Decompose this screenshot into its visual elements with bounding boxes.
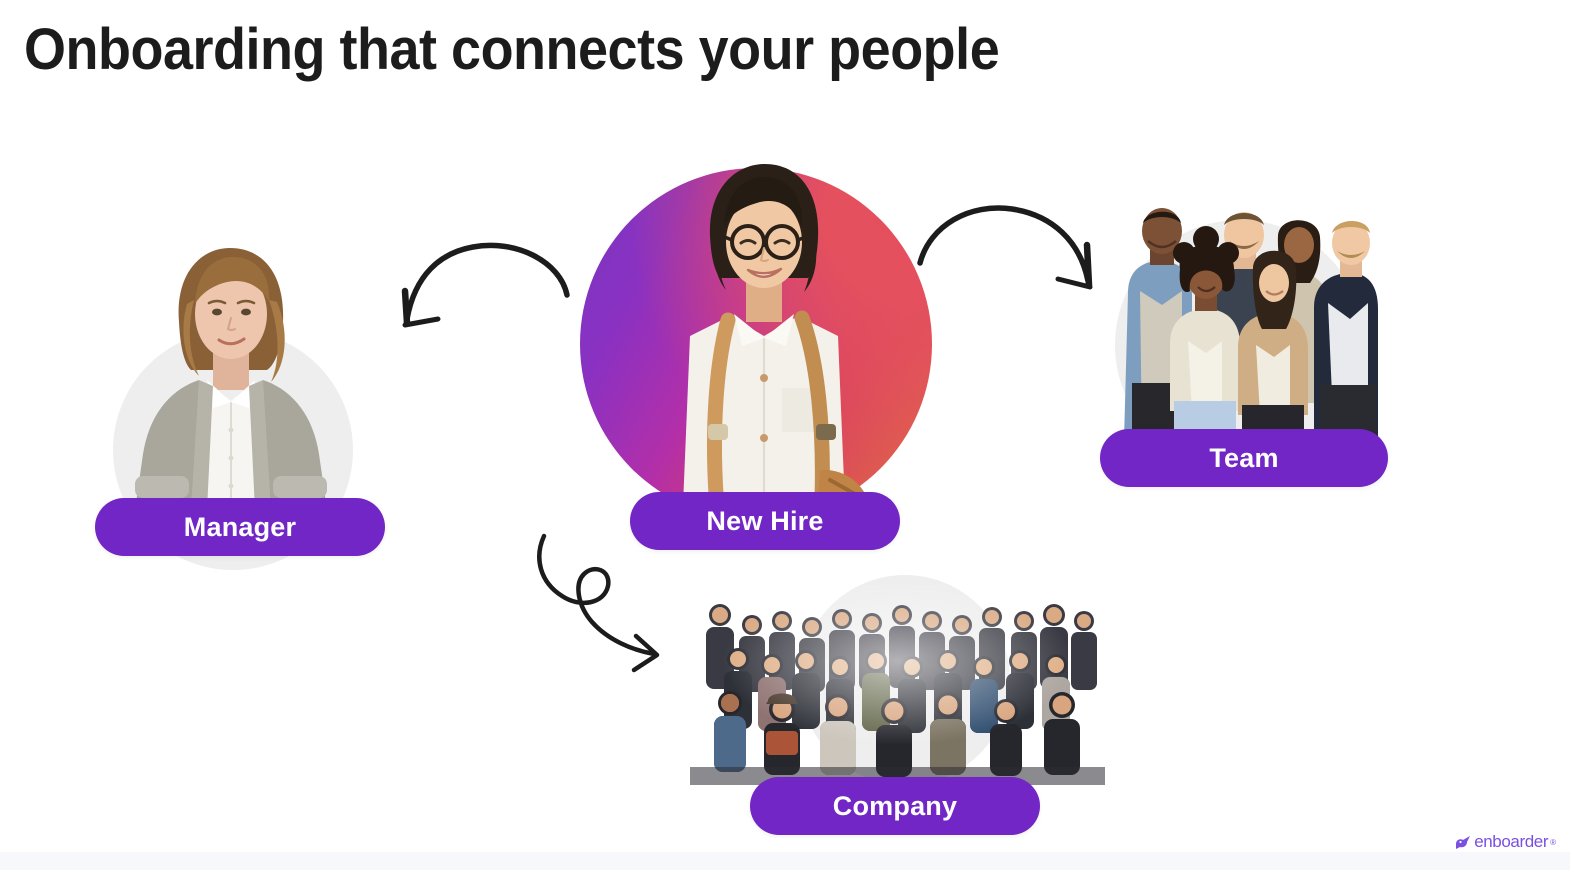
company-label-pill[interactable]: Company: [750, 777, 1040, 835]
node-team[interactable]: Team: [1100, 195, 1400, 495]
enboarder-logo[interactable]: enboarder ®: [1454, 832, 1556, 852]
team-photo: [1110, 195, 1380, 440]
company-label: Company: [833, 791, 957, 822]
arrow-to-manager-icon: [385, 235, 585, 355]
arrow-to-team-icon: [912, 195, 1112, 315]
logo-trademark: ®: [1550, 838, 1556, 847]
manager-label-pill[interactable]: Manager: [95, 498, 385, 556]
node-new-hire[interactable]: New Hire: [580, 150, 940, 560]
bottom-strip: [0, 852, 1570, 870]
manager-photo: [95, 230, 365, 510]
new-hire-photo: [624, 150, 899, 530]
logo-wordmark: enboarder: [1474, 832, 1548, 852]
new-hire-label-pill[interactable]: New Hire: [630, 492, 900, 550]
team-label-pill[interactable]: Team: [1100, 429, 1388, 487]
team-label: Team: [1209, 443, 1278, 474]
node-company[interactable]: Company: [690, 565, 1110, 840]
manager-label: Manager: [184, 512, 296, 543]
node-manager[interactable]: Manager: [95, 230, 395, 555]
bird-icon: [1454, 835, 1472, 850]
slide-canvas: Onboarding that connects your people: [0, 0, 1570, 870]
new-hire-label: New Hire: [706, 506, 823, 537]
page-title: Onboarding that connects your people: [24, 14, 999, 87]
company-photo: [690, 585, 1105, 785]
